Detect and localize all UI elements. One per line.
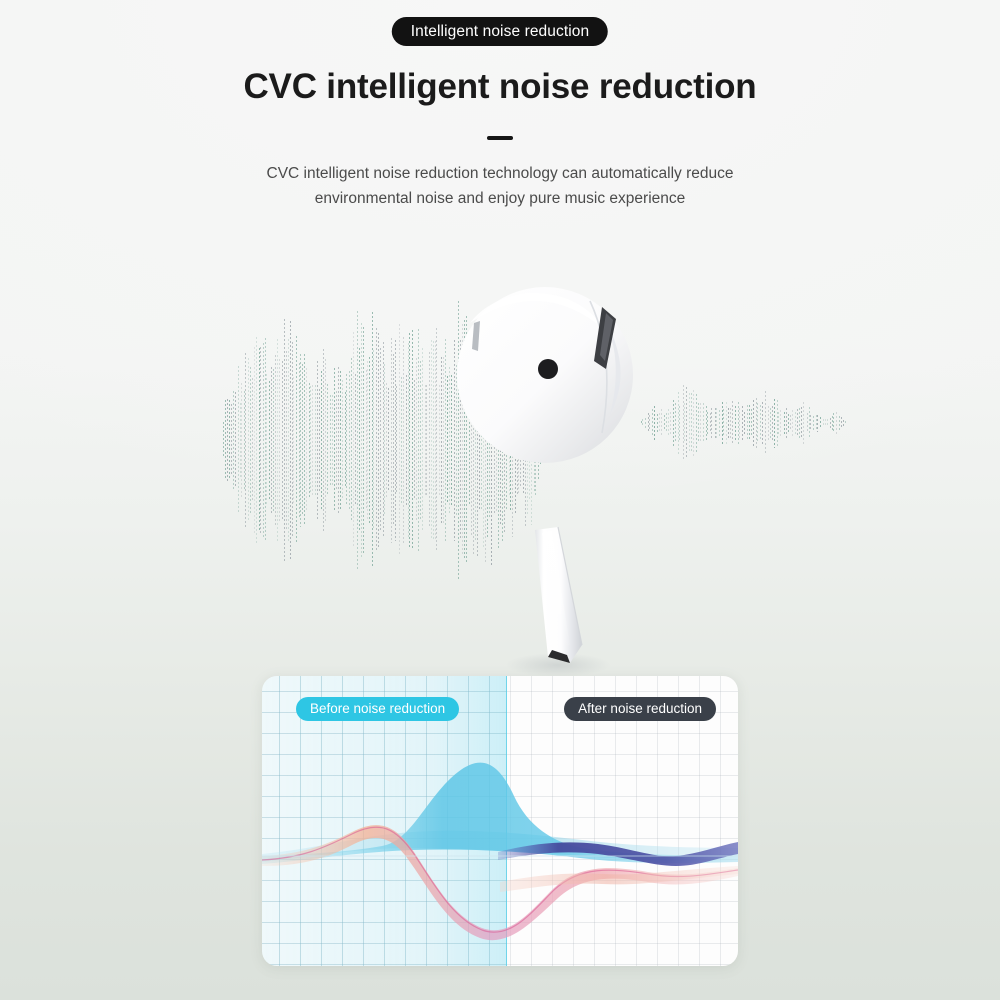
waveform-bar xyxy=(707,412,708,434)
earbud-image xyxy=(430,265,670,685)
waveform-bar xyxy=(293,377,294,503)
waveform-bar xyxy=(323,349,324,530)
earbud-microphone-dot xyxy=(538,359,558,379)
subtitle-line-2: environmental noise and enjoy pure music… xyxy=(0,186,1000,211)
waveform-bar xyxy=(275,355,276,525)
waveform-bar xyxy=(357,311,358,570)
waveform-bar xyxy=(810,415,811,430)
waveform-bar xyxy=(310,386,311,493)
waveform-bar xyxy=(803,402,804,444)
waveform-bar xyxy=(229,400,230,479)
waveform-bar xyxy=(684,403,685,442)
waveform-bar xyxy=(282,361,283,520)
waveform-bar xyxy=(223,422,224,459)
waveform-bar xyxy=(698,403,699,443)
waveform-bar xyxy=(422,348,423,532)
waveform-bar xyxy=(747,405,748,442)
waveform-bar xyxy=(302,364,303,516)
waveform-bar xyxy=(290,321,291,558)
waveform-bar xyxy=(813,416,814,430)
waveform-bar xyxy=(346,374,347,506)
waveform-bar xyxy=(801,407,802,439)
waveform-bar xyxy=(735,406,736,440)
waveform-bar xyxy=(238,366,239,514)
waveform-bar xyxy=(843,420,844,427)
waveform-bar xyxy=(739,408,740,439)
waveform-bar xyxy=(355,374,356,506)
waveform-bar xyxy=(300,354,301,527)
waveform-bar xyxy=(797,409,798,438)
waveform-bar xyxy=(225,400,226,481)
waveform-bar xyxy=(327,384,328,495)
waveform-bar xyxy=(325,359,326,520)
waveform-bar xyxy=(738,402,739,444)
waveform-bar xyxy=(711,408,712,438)
waveform-bar xyxy=(366,370,367,510)
waveform-bar xyxy=(788,414,789,433)
waveform-bar xyxy=(730,408,731,438)
waveform-bar xyxy=(231,404,232,476)
waveform-bar xyxy=(816,415,817,432)
waveform-bar xyxy=(244,391,245,489)
waveform-bar xyxy=(252,378,253,503)
waveform-bar xyxy=(384,364,385,517)
title-divider xyxy=(487,136,513,140)
waveform-bar xyxy=(321,371,322,509)
waveform-bar xyxy=(726,402,727,445)
waveform-bar xyxy=(393,354,394,526)
waveform-bar xyxy=(723,409,724,437)
waveform-bar xyxy=(383,342,384,538)
waveform-bar xyxy=(241,383,242,497)
waveform-bar xyxy=(670,412,671,435)
waveform-bar xyxy=(770,408,771,438)
waveform-bar xyxy=(675,403,676,443)
waveform-bar xyxy=(245,353,246,528)
waveform-bar xyxy=(728,408,729,438)
waveform-bar xyxy=(338,367,339,514)
waveform-bar xyxy=(345,392,346,488)
waveform-bar xyxy=(336,391,337,489)
noise-comparison-card: Before noise reduction After noise reduc… xyxy=(262,676,738,966)
waveform-bar xyxy=(706,406,707,441)
waveform-bar xyxy=(332,395,333,486)
waveform-bar xyxy=(696,394,697,453)
waveform-bar xyxy=(266,374,267,505)
waveform-bar xyxy=(288,339,289,542)
waveform-bar xyxy=(259,348,260,532)
waveform-bar xyxy=(686,387,687,459)
waveform-bar xyxy=(765,391,766,455)
waveform-bar xyxy=(396,386,397,495)
waveform-bar xyxy=(678,392,679,454)
waveform-bar xyxy=(845,421,846,425)
waveform-bar xyxy=(334,368,335,512)
waveform-bar xyxy=(414,380,415,500)
waveform-bar xyxy=(279,359,280,522)
waveform-bar xyxy=(240,403,241,477)
waveform-bar xyxy=(799,408,800,438)
waveform-bar xyxy=(386,383,387,497)
waveform-bar xyxy=(809,407,810,438)
waveform-bar xyxy=(406,375,407,504)
waveform-bar xyxy=(716,408,717,438)
waveform-bar xyxy=(250,367,251,514)
waveform-bar xyxy=(691,393,692,453)
waveform-bar xyxy=(817,415,818,432)
waveform-bar xyxy=(403,337,404,543)
waveform-bar xyxy=(710,413,711,433)
waveform-bar xyxy=(227,399,228,481)
waveform-bar xyxy=(753,400,754,446)
waveform-bar xyxy=(372,312,373,569)
waveform-bar xyxy=(351,358,352,522)
waveform-bar xyxy=(395,340,396,541)
waveform-bar xyxy=(330,395,331,486)
waveform-bar xyxy=(807,413,808,433)
waveform-bar xyxy=(786,408,787,439)
waveform-bar xyxy=(286,351,287,529)
waveform-bar xyxy=(756,398,757,449)
waveform-bar xyxy=(841,417,842,429)
section-badge: Intelligent noise reduction xyxy=(392,17,608,46)
waveform-bar xyxy=(271,367,272,513)
waveform-bar xyxy=(418,329,419,550)
waveform-bar xyxy=(715,408,716,438)
waveform-bar xyxy=(388,388,389,491)
waveform-bar xyxy=(700,403,701,443)
waveform-bar xyxy=(757,403,758,442)
waveform-bar xyxy=(317,361,318,520)
waveform-bar xyxy=(772,406,773,441)
waveform-bar xyxy=(380,348,381,531)
waveform-bar xyxy=(768,406,769,440)
waveform-bar xyxy=(263,343,264,538)
waveform-bar xyxy=(265,338,266,542)
waveform-bar xyxy=(833,413,834,433)
waveform-bar xyxy=(790,415,791,431)
waveform-bar xyxy=(359,348,360,532)
waveform-bar xyxy=(683,385,684,461)
waveform-bar xyxy=(363,327,364,554)
waveform-bar xyxy=(260,347,261,532)
waveform-bar xyxy=(342,380,343,501)
waveform-bar xyxy=(778,412,779,435)
waveform-bar xyxy=(416,358,417,523)
waveform-bar xyxy=(256,337,257,543)
waveform-bar xyxy=(409,333,410,546)
waveform-bar xyxy=(378,333,379,546)
waveform-bar xyxy=(722,402,723,445)
waveform-bar xyxy=(391,338,392,543)
waveform-bar xyxy=(820,417,821,429)
waveform-bar xyxy=(749,405,750,440)
waveform-bar xyxy=(830,418,831,429)
waveform-bar xyxy=(367,361,368,520)
waveform-bar xyxy=(760,405,761,441)
waveform-bar xyxy=(426,385,427,494)
waveform-bar xyxy=(292,342,293,539)
waveform-bar xyxy=(349,371,350,508)
waveform-bar xyxy=(827,419,828,426)
waveform-bar xyxy=(719,410,720,437)
waveform-bar xyxy=(425,385,426,494)
waveform-bar xyxy=(254,347,255,532)
waveform-bar xyxy=(306,368,307,511)
waveform-bar xyxy=(399,324,400,557)
waveform-bar xyxy=(315,385,316,496)
waveform-bar xyxy=(679,406,680,441)
waveform-bar xyxy=(825,419,826,426)
waveform-bar xyxy=(369,357,370,522)
page-subtitle: CVC intelligent noise reduction technolo… xyxy=(0,161,1000,211)
waveform-bar xyxy=(780,410,781,435)
waveform-bar xyxy=(235,392,236,487)
after-noise-reduction-label: After noise reduction xyxy=(564,697,716,721)
waveform-bar xyxy=(408,343,409,537)
waveform-bar xyxy=(823,419,824,426)
waveform-after-noise xyxy=(640,368,850,478)
subtitle-line-1: CVC intelligent noise reduction technolo… xyxy=(0,161,1000,186)
waveform-bar xyxy=(312,385,313,494)
waveform-bar xyxy=(744,412,745,435)
waveform-bar xyxy=(420,361,421,519)
waveform-bar xyxy=(839,416,840,431)
waveform-bar xyxy=(309,383,310,498)
waveform-bar xyxy=(296,336,297,544)
before-noise-reduction-label: Before noise reduction xyxy=(296,697,459,721)
waveform-bar xyxy=(784,412,785,435)
waveform-bar xyxy=(412,330,413,550)
waveform-bar xyxy=(319,389,320,492)
waveform-bar xyxy=(774,399,775,448)
marketing-page: Intelligent noise reduction CVC intellig… xyxy=(0,0,1000,1000)
waveform-bar xyxy=(248,358,249,521)
waveform-bar xyxy=(751,409,752,436)
waveform-bar xyxy=(299,363,300,517)
waveform-bar xyxy=(795,412,796,435)
waveform-bar xyxy=(401,377,402,503)
waveform-bar xyxy=(304,354,305,526)
waveform-bar xyxy=(277,339,278,541)
waveform-bar xyxy=(689,393,690,452)
waveform-bar xyxy=(742,406,743,441)
waveform-bar xyxy=(777,400,778,446)
page-title: CVC intelligent noise reduction xyxy=(0,67,1000,107)
waveform-bar xyxy=(693,390,694,456)
waveform-bar xyxy=(273,369,274,512)
waveform-bar xyxy=(376,328,377,551)
waveform-bar xyxy=(233,391,234,489)
waveform-bar xyxy=(732,401,733,445)
waveform-bar xyxy=(673,400,674,446)
waveform-bar xyxy=(340,371,341,508)
waveform-bar xyxy=(361,323,362,557)
waveform-bar xyxy=(762,402,763,445)
waveform-bar xyxy=(284,319,285,562)
waveform-bar xyxy=(832,416,833,431)
waveform-bar xyxy=(269,381,270,499)
waveform-bar xyxy=(373,350,374,529)
waveform-bar xyxy=(703,403,704,443)
waveform-bar xyxy=(836,412,837,435)
waveform-bar xyxy=(353,332,354,548)
waveform-bar xyxy=(792,410,793,436)
